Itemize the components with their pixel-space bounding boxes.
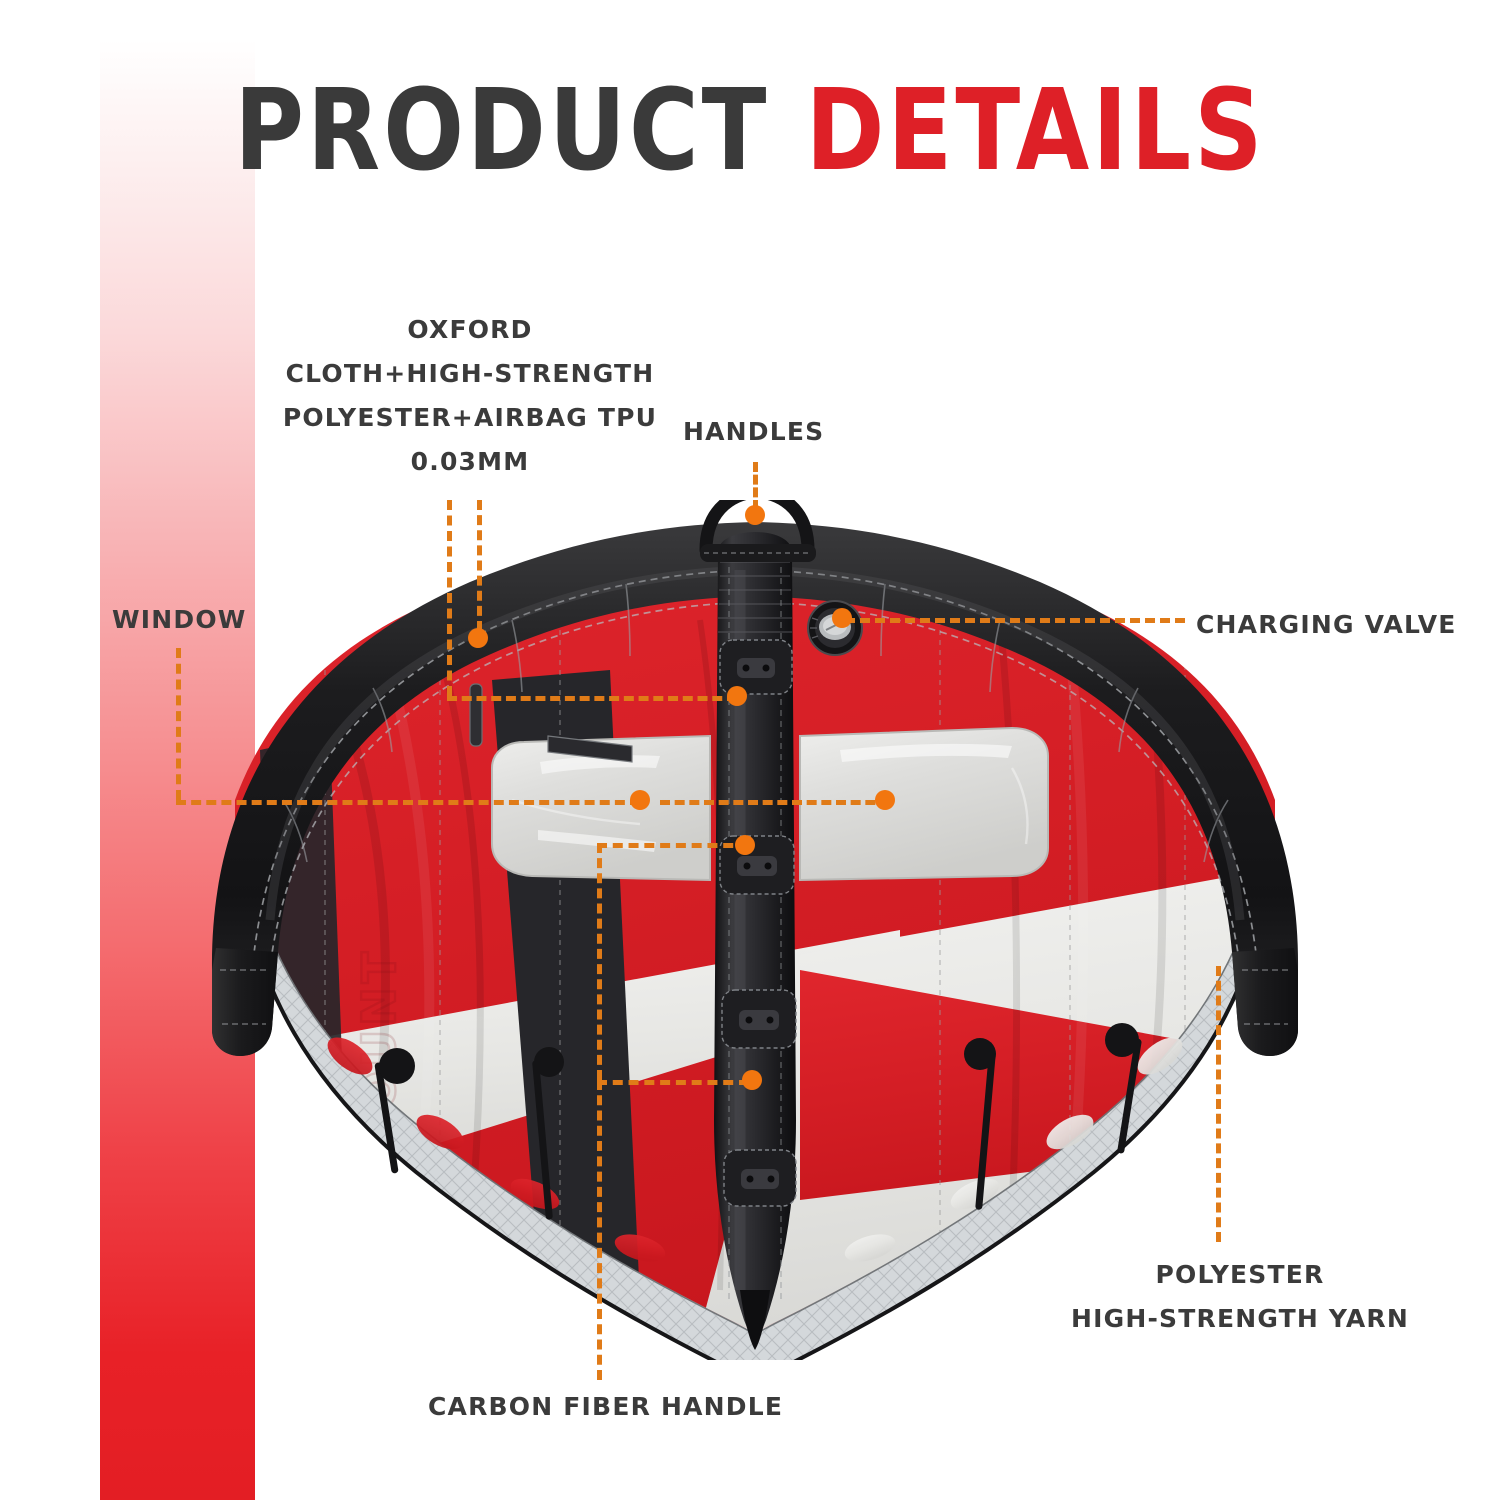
leader-oxford-b-vertical [477,500,482,631]
leader-oxford-a-horizontal [447,696,737,701]
callout-window: WINDOW [112,598,247,642]
leader-window-dot-right [875,790,895,810]
callout-window-label: WINDOW [112,605,247,634]
callout-polyester-line2: HIGH-STRENGTH YARN [1040,1297,1440,1341]
callout-oxford-cloth: OXFORD CLOTH+HIGH-STRENGTH POLYESTER+AIR… [270,308,670,484]
leader-carbon-dot-lower [742,1070,762,1090]
callout-oxford-line1: OXFORD [270,308,670,352]
leader-carbon-horizontal-upper [597,843,749,848]
callout-polyester-line1: POLYESTER [1040,1253,1440,1297]
leader-carbon-dot-upper [735,835,755,855]
handle-mount [722,990,796,1048]
handle-mount [724,1150,796,1206]
callout-carbon-fiber-handle-label: CARBON FIBER HANDLE [428,1392,783,1421]
page-title: PRODUCT DETAILS [0,72,1500,190]
callout-oxford-line3: POLYESTER+AIRBAG TPU [270,396,670,440]
leader-charging-valve-horizontal [845,618,1185,623]
handle-mount [720,640,792,694]
leader-oxford-b-dot [468,628,488,648]
page-title-word-product: PRODUCT [234,66,769,196]
leader-window-horizontal [176,800,640,805]
leader-carbon-vertical-lower [597,1080,602,1380]
leader-carbon-horizontal-lower [597,1080,749,1085]
callout-carbon-fiber-handle: CARBON FIBER HANDLE [428,1385,783,1429]
callout-oxford-line2: CLOTH+HIGH-STRENGTH [270,352,670,396]
leader-polyester-vertical [1216,966,1221,1242]
leader-carbon-vertical-upper [597,843,602,1080]
leader-handles-dot [745,505,765,525]
callout-handles-label: HANDLES [683,417,824,446]
product-image-wing-foil: MOUNT MOUNT [140,500,1370,1360]
leader-window-vertical [176,648,181,800]
leader-charging-valve-dot [832,608,852,628]
leader-oxford-a-vertical [447,500,452,696]
leader-handles-vertical [753,462,758,510]
callout-charging-valve-label: CHARGING VALVE [1196,610,1457,639]
callout-handles: HANDLES [683,410,824,454]
callout-oxford-line4: 0.03MM [270,440,670,484]
callout-polyester-yarn: POLYESTER HIGH-STRENGTH YARN [1040,1253,1440,1341]
callout-charging-valve: CHARGING VALVE [1196,603,1457,647]
leader-oxford-a-dot [727,686,747,706]
leader-window-dot-left [630,790,650,810]
page-title-word-details: DETAILS [806,66,1266,196]
leader-window-horizontal-right [660,800,890,805]
